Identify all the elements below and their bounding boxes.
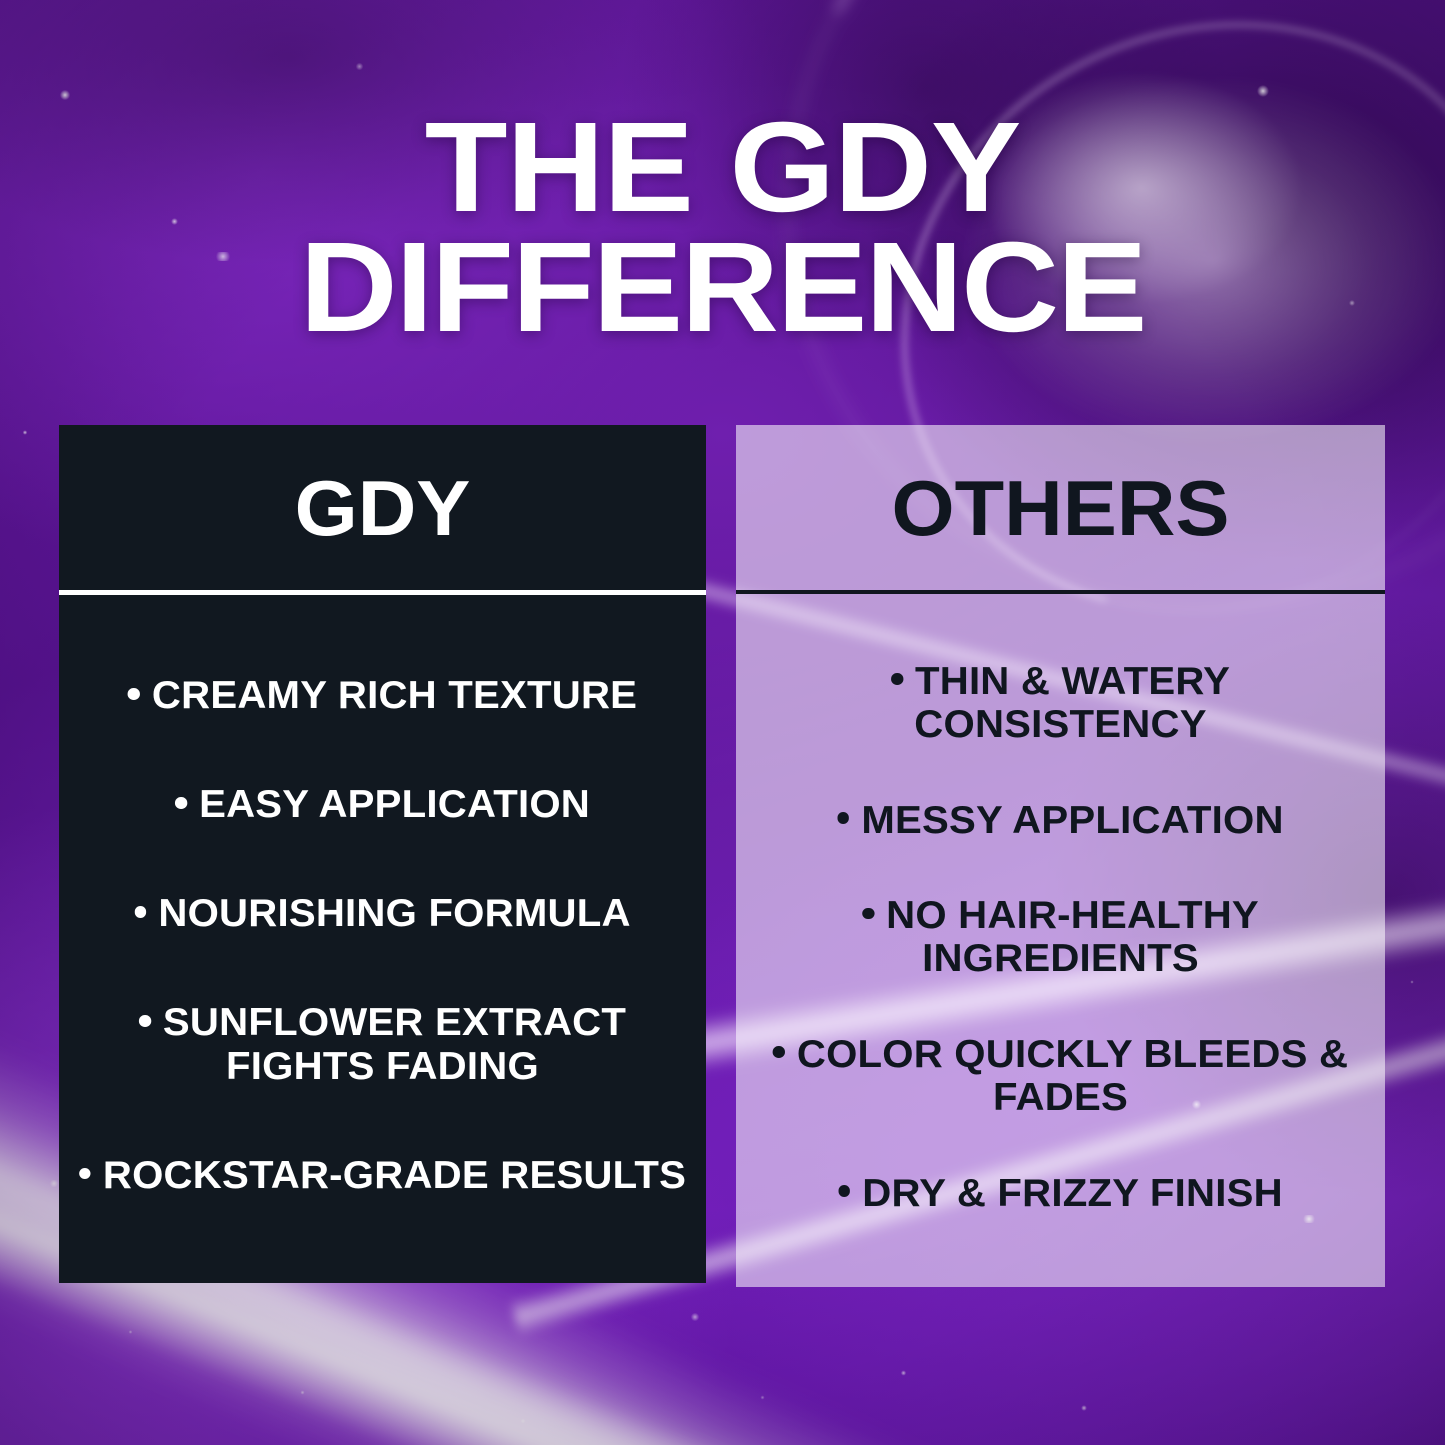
list-item: NOURISHING FORMULA xyxy=(68,892,697,936)
list-item: EASY APPLICATION xyxy=(68,783,697,827)
list-item: SUNFLOWER EXTRACT FIGHTS FADING xyxy=(68,1001,697,1088)
bullet-icon xyxy=(773,1046,785,1058)
list-item: THIN & WATERY CONSISTENCY xyxy=(745,660,1376,747)
bullet-icon xyxy=(837,812,849,824)
column-header-others: OTHERS xyxy=(723,425,1398,590)
drawback-list-others: THIN & WATERY CONSISTENCY MESSY APPLICAT… xyxy=(736,594,1385,1287)
list-item-label: EASY APPLICATION xyxy=(199,783,590,826)
list-item-label: DRY & FRIZZY FINISH xyxy=(862,1172,1283,1215)
list-item-label: ROCKSTAR-GRADE RESULTS xyxy=(103,1154,686,1197)
list-item-label: COLOR QUICKLY BLEEDS & FADES xyxy=(797,1033,1348,1120)
list-item: COLOR QUICKLY BLEEDS & FADES xyxy=(745,1033,1376,1120)
list-item: DRY & FRIZZY FINISH xyxy=(745,1172,1376,1216)
bullet-icon xyxy=(139,1015,151,1027)
bullet-icon xyxy=(838,1185,850,1197)
bullet-icon xyxy=(891,673,903,685)
bullet-icon xyxy=(862,908,874,920)
title-line-2: DIFFERENCE xyxy=(0,228,1445,348)
list-item-label: THIN & WATERY CONSISTENCY xyxy=(914,660,1230,747)
benefit-list-gdy: CREAMY RICH TEXTURE EASY APPLICATION NOU… xyxy=(59,595,706,1283)
column-header-gdy: GDY xyxy=(46,425,719,590)
bullet-icon xyxy=(79,1168,91,1180)
promo-graphic: THE GDY DIFFERENCE GDY CREAMY RICH TEXTU… xyxy=(0,0,1445,1445)
list-item-label: MESSY APPLICATION xyxy=(861,799,1283,842)
bullet-icon xyxy=(134,906,146,918)
comparison-column-others: OTHERS THIN & WATERY CONSISTENCY MESSY A… xyxy=(736,425,1385,1287)
comparison-column-gdy: GDY CREAMY RICH TEXTURE EASY APPLICATION… xyxy=(59,425,706,1283)
page-title: THE GDY DIFFERENCE xyxy=(0,108,1445,349)
list-item-label: CREAMY RICH TEXTURE xyxy=(152,674,637,717)
list-item: MESSY APPLICATION xyxy=(745,799,1376,843)
list-item: NO HAIR-HEALTHY INGREDIENTS xyxy=(745,894,1376,981)
list-item: CREAMY RICH TEXTURE xyxy=(68,674,697,718)
list-item-label: SUNFLOWER EXTRACT FIGHTS FADING xyxy=(163,1001,626,1088)
list-item-label: NOURISHING FORMULA xyxy=(158,892,630,935)
bullet-icon xyxy=(175,797,187,809)
list-item-label: NO HAIR-HEALTHY INGREDIENTS xyxy=(886,894,1259,981)
list-item: ROCKSTAR-GRADE RESULTS xyxy=(68,1154,697,1198)
bullet-icon xyxy=(128,688,140,700)
